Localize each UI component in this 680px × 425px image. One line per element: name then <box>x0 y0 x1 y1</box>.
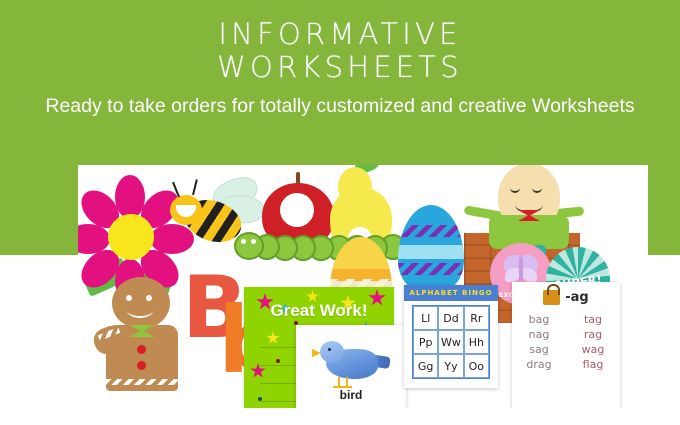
caterpillar-head <box>234 232 264 260</box>
green-left-block <box>0 165 78 255</box>
artwork-panel: EXCELLENT SUPER! B b <box>78 165 648 408</box>
ag-word: drag <box>512 357 566 372</box>
ag-word: rag <box>566 327 620 342</box>
ag-word: flag <box>566 357 620 372</box>
bingo-cell: Dd <box>438 306 463 330</box>
bird-flashcard: bird <box>296 325 406 408</box>
title-line-2: WORKSHEETS <box>0 51 680 84</box>
page-subtitle: Ready to take orders for totally customi… <box>40 92 640 121</box>
ag-word: tag <box>566 312 620 327</box>
ag-card-title: -ag <box>565 290 588 305</box>
poster-title: Great Work! <box>244 301 394 321</box>
humpty-dumpty-illustration <box>470 165 590 243</box>
ag-word: nag <box>512 327 566 342</box>
green-right-block <box>648 165 680 255</box>
handbag-icon <box>543 290 560 305</box>
ag-word: bag <box>512 312 566 327</box>
ag-column-right: tag rag wag flag <box>566 312 620 372</box>
bingo-cell: Oo <box>464 354 489 378</box>
ag-word-family-card: -ag bag nag sag drag tag rag wag flag <box>512 282 620 408</box>
bingo-card-header: ALPHABET BINGO <box>404 285 498 301</box>
bingo-cell: Ll <box>413 306 438 330</box>
alphabet-bingo-card: ALPHABET BINGO Ll Dd Rr Pp Ww Hh Gg Yy O… <box>404 285 498 388</box>
pear-neck <box>338 167 372 207</box>
flower-center <box>108 214 154 260</box>
ag-word: sag <box>512 342 566 357</box>
title-line-1: INFORMATIVE <box>0 18 680 51</box>
ag-card-title-row: -ag <box>512 290 620 305</box>
ag-word-columns: bag nag sag drag tag rag wag flag <box>512 312 620 372</box>
bingo-cell: Pp <box>413 330 438 354</box>
bee-antenna-right <box>192 179 198 195</box>
easter-egg-blue <box>398 205 464 295</box>
page-title: INFORMATIVE WORKSHEETS <box>0 18 680 84</box>
bingo-cell: Yy <box>438 354 463 378</box>
bingo-cell: Gg <box>413 354 438 378</box>
ag-word: wag <box>566 342 620 357</box>
bird-illustration <box>320 339 390 387</box>
bingo-cell: Ww <box>438 330 463 354</box>
ag-column-left: bag nag sag drag <box>512 312 566 372</box>
flower-petals <box>88 195 172 279</box>
bingo-cell: Rr <box>464 306 489 330</box>
bird-card-label: bird <box>296 388 406 402</box>
apple-bite-hole <box>280 193 314 227</box>
bingo-grid: Ll Dd Rr Pp Ww Hh Gg Yy Oo <box>412 305 490 379</box>
gingerbread-icing <box>106 379 178 385</box>
caterpillar-illustration <box>224 227 424 267</box>
thumbnail-stage: INFORMATIVE WORKSHEETS Ready to take ord… <box>0 0 680 425</box>
bingo-cell: Hh <box>464 330 489 354</box>
